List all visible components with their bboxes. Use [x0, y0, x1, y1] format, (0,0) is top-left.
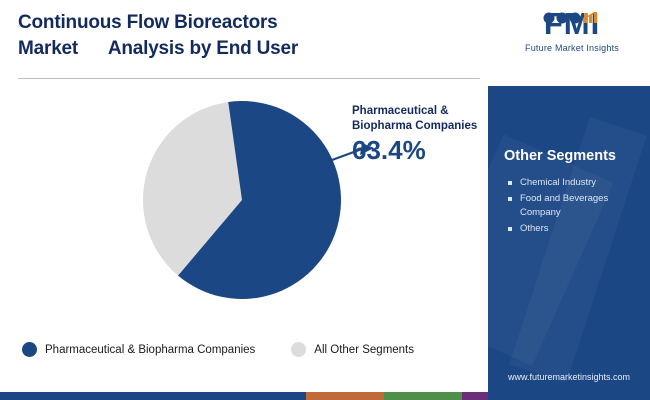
logo-block: FMI Future Market Insights — [488, 0, 650, 86]
website-url[interactable]: www.futuremarketinsights.com — [488, 372, 650, 382]
bottom-bar-segment — [384, 392, 462, 400]
callout-label: Pharmaceutical & Biopharma Companies — [352, 104, 482, 134]
legend-swatch-icon — [291, 342, 306, 357]
pie-graphic — [142, 100, 342, 300]
list-item-label: Chemical Industry — [520, 177, 596, 188]
logo-tagline: Future Market Insights — [514, 43, 630, 53]
list-item: Chemical Industry — [506, 176, 640, 190]
bottom-bar-segment — [462, 392, 488, 400]
list-item-label: Others — [520, 223, 549, 234]
logo: FMI Future Market Insights — [514, 8, 630, 53]
chart-legend: Pharmaceutical & Biopharma Companies All… — [22, 342, 472, 357]
legend-item: Pharmaceutical & Biopharma Companies — [22, 342, 255, 357]
callout-block: Pharmaceutical & Biopharma Companies 63.… — [352, 104, 482, 165]
legend-label: Pharmaceutical & Biopharma Companies — [45, 344, 255, 356]
title-divider — [18, 78, 480, 79]
other-segments-heading: Other Segments — [504, 148, 616, 164]
other-segments-list: Chemical Industry Food and Beverages Com… — [506, 176, 640, 238]
bullet-icon — [508, 181, 512, 185]
legend-swatch-icon — [22, 342, 37, 357]
callout-value: 63.4% — [352, 135, 482, 165]
page-title-line-2: Market Analysis by End User — [18, 36, 468, 62]
infographic-page: Continuous Flow Bioreactors Market Analy… — [0, 0, 650, 400]
pie-chart: Pharmaceutical & Biopharma Companies 63.… — [0, 86, 488, 392]
bottom-bar-segment — [488, 392, 650, 400]
legend-label: All Other Segments — [314, 344, 414, 356]
bullet-icon — [508, 197, 512, 201]
legend-item: All Other Segments — [291, 342, 414, 357]
list-item: Others — [506, 222, 640, 236]
pie-svg — [142, 100, 342, 300]
bottom-bar-segment — [0, 392, 306, 400]
list-item: Food and Beverages Company — [506, 192, 640, 220]
page-title: Continuous Flow Bioreactors Market Analy… — [18, 10, 468, 62]
bottom-color-bar — [0, 392, 650, 400]
list-item-label: Food and Beverages Company — [520, 193, 608, 218]
page-title-line-1: Continuous Flow Bioreactors — [18, 10, 468, 36]
bullet-icon — [508, 227, 512, 231]
fmi-logo-icon — [542, 12, 602, 24]
bottom-bar-segment — [306, 392, 384, 400]
side-panel: FMI Future Market Insights Other Segment… — [488, 0, 650, 400]
